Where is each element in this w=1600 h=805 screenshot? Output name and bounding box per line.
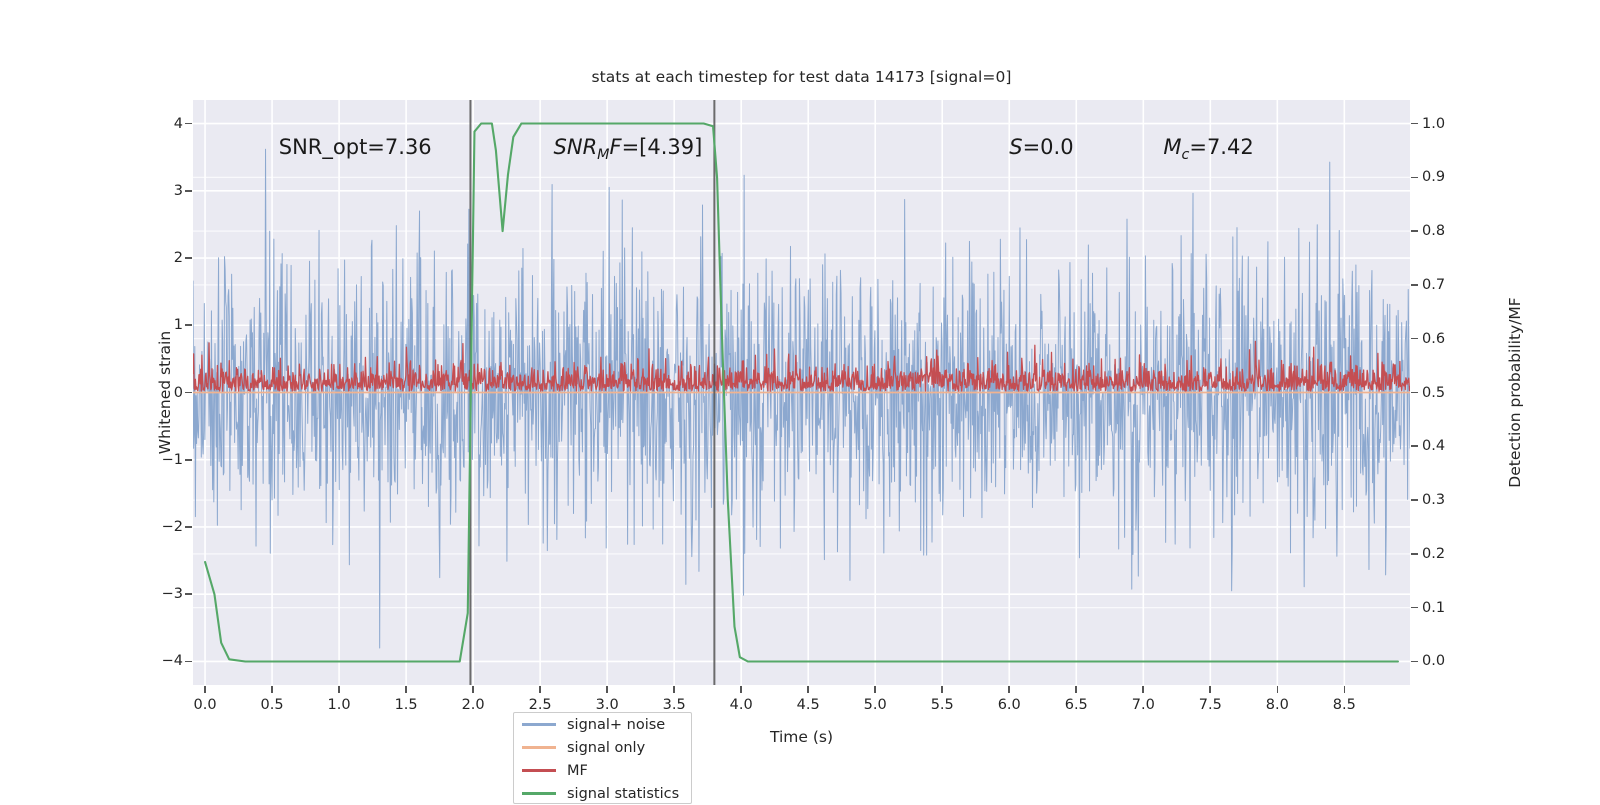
annotation-s: S=0.0 bbox=[1009, 135, 1073, 159]
tick-mark bbox=[185, 526, 192, 528]
x-axis-tick: 8.5 bbox=[1333, 697, 1356, 713]
x-axis-tick: 2.5 bbox=[529, 697, 552, 713]
y-axis-right-label: Detection probability/MF bbox=[1498, 100, 1532, 685]
tick-mark bbox=[673, 686, 675, 693]
tick-mark bbox=[740, 686, 742, 693]
x-axis-tick: 5.0 bbox=[864, 697, 887, 713]
x-axis-tick: 7.5 bbox=[1199, 697, 1222, 713]
tick-mark bbox=[472, 686, 474, 693]
legend-item[interactable]: signal+ noise bbox=[514, 713, 691, 736]
tick-mark bbox=[185, 123, 192, 125]
y-axis-right-tick: 0.4 bbox=[1422, 438, 1445, 454]
x-axis-tick: 6.5 bbox=[1065, 697, 1088, 713]
x-axis-tick: 3.0 bbox=[596, 697, 619, 713]
tick-mark bbox=[1411, 499, 1418, 501]
x-axis-tick: 4.5 bbox=[797, 697, 820, 713]
annotation-snr-mf: SNRMF=[4.39] bbox=[554, 135, 703, 163]
y-axis-right-tick: 0.7 bbox=[1422, 277, 1445, 293]
tick-mark bbox=[185, 324, 192, 326]
x-axis-tick: 0.0 bbox=[194, 697, 217, 713]
tick-mark bbox=[1142, 686, 1144, 693]
figure-canvas: stats at each timestep for test data 141… bbox=[0, 0, 1600, 800]
y-axis-right-ticklabels: 0.00.10.20.30.40.50.60.70.80.91.0 bbox=[1422, 100, 1474, 685]
legend-swatch-icon bbox=[522, 792, 556, 794]
y-axis-right-tick: 0.1 bbox=[1422, 600, 1445, 616]
tick-mark bbox=[1411, 392, 1418, 394]
x-axis-tick: 7.0 bbox=[1132, 697, 1155, 713]
tick-mark bbox=[1411, 284, 1418, 286]
tick-mark bbox=[1411, 445, 1418, 447]
x-axis-tick: 5.5 bbox=[931, 697, 954, 713]
tick-mark bbox=[1008, 686, 1010, 693]
tick-mark bbox=[1411, 177, 1418, 179]
tick-mark bbox=[338, 686, 340, 693]
tick-mark bbox=[185, 593, 192, 595]
annotation-snr-opt: SNR_opt=7.36 bbox=[279, 135, 432, 159]
tick-mark bbox=[874, 686, 876, 693]
page-title: stats at each timestep for test data 141… bbox=[193, 68, 1410, 86]
tick-mark bbox=[1411, 553, 1418, 555]
tick-mark bbox=[271, 686, 273, 693]
y-axis-left-label: Whitened strain bbox=[148, 100, 182, 685]
tick-mark bbox=[1075, 686, 1077, 693]
tick-mark bbox=[539, 686, 541, 693]
legend-item[interactable]: MF bbox=[514, 759, 691, 782]
tick-mark bbox=[185, 459, 192, 461]
tick-mark bbox=[185, 661, 192, 663]
tick-mark bbox=[185, 190, 192, 192]
y-axis-right-tick: 0.5 bbox=[1422, 385, 1445, 401]
legend-swatch-icon bbox=[522, 723, 556, 725]
legend-label: MF bbox=[567, 763, 588, 779]
tick-mark bbox=[1411, 230, 1418, 232]
x-axis-tick: 2.0 bbox=[462, 697, 485, 713]
legend-label: signal+ noise bbox=[567, 717, 665, 733]
x-axis-tickmarks bbox=[193, 686, 1410, 694]
y-axis-right-tick: 0.0 bbox=[1422, 653, 1445, 669]
tick-mark bbox=[1411, 607, 1418, 609]
legend-item[interactable]: signal statistics bbox=[514, 782, 691, 805]
tick-mark bbox=[185, 392, 192, 394]
series-signal-plus-noise bbox=[193, 149, 1410, 648]
tick-mark bbox=[606, 686, 608, 693]
tick-mark bbox=[941, 686, 943, 693]
y-axis-right-tick: 0.8 bbox=[1422, 223, 1445, 239]
legend-label: signal only bbox=[567, 740, 645, 756]
x-axis-tick: 4.0 bbox=[730, 697, 753, 713]
tick-mark bbox=[807, 686, 809, 693]
x-axis-tick: 1.5 bbox=[395, 697, 418, 713]
y-axis-right-tick: 1.0 bbox=[1422, 116, 1445, 132]
x-axis-tick: 1.0 bbox=[328, 697, 351, 713]
y-axis-right-tickmarks bbox=[1411, 100, 1419, 685]
plot-svg bbox=[193, 100, 1410, 685]
x-axis-tick: 3.5 bbox=[663, 697, 686, 713]
y-axis-right-tick: 0.2 bbox=[1422, 546, 1445, 562]
x-axis-ticklabels: 0.00.51.01.52.02.53.03.54.04.55.05.56.06… bbox=[193, 697, 1410, 719]
x-axis-tick: 0.5 bbox=[261, 697, 284, 713]
tick-mark bbox=[1277, 686, 1279, 693]
y-axis-right-tick: 0.3 bbox=[1422, 492, 1445, 508]
x-axis-label: Time (s) bbox=[193, 728, 1410, 746]
x-axis-tick: 6.0 bbox=[998, 697, 1021, 713]
annotation-mc: Mc=7.42 bbox=[1163, 135, 1253, 163]
y-axis-right-tick: 0.6 bbox=[1422, 331, 1445, 347]
y-axis-left-tickmarks bbox=[185, 100, 193, 685]
legend-swatch-icon bbox=[522, 769, 556, 771]
plot-area: SNR_opt=7.36 SNRMF=[4.39] S=0.0 Mc=7.42 … bbox=[193, 100, 1410, 685]
x-axis-tick: 8.0 bbox=[1266, 697, 1289, 713]
tick-mark bbox=[1411, 338, 1418, 340]
tick-mark bbox=[1411, 661, 1418, 663]
y-axis-right-tick: 0.9 bbox=[1422, 169, 1445, 185]
tick-mark bbox=[405, 686, 407, 693]
tick-mark bbox=[1411, 123, 1418, 125]
legend-label: signal statistics bbox=[567, 786, 679, 802]
tick-mark bbox=[185, 257, 192, 259]
tick-mark bbox=[1344, 686, 1346, 693]
tick-mark bbox=[204, 686, 206, 693]
legend-swatch-icon bbox=[522, 746, 556, 748]
legend[interactable]: signal+ noisesignal onlyMFsignal statist… bbox=[513, 712, 692, 804]
legend-item[interactable]: signal only bbox=[514, 736, 691, 759]
tick-mark bbox=[1209, 686, 1211, 693]
